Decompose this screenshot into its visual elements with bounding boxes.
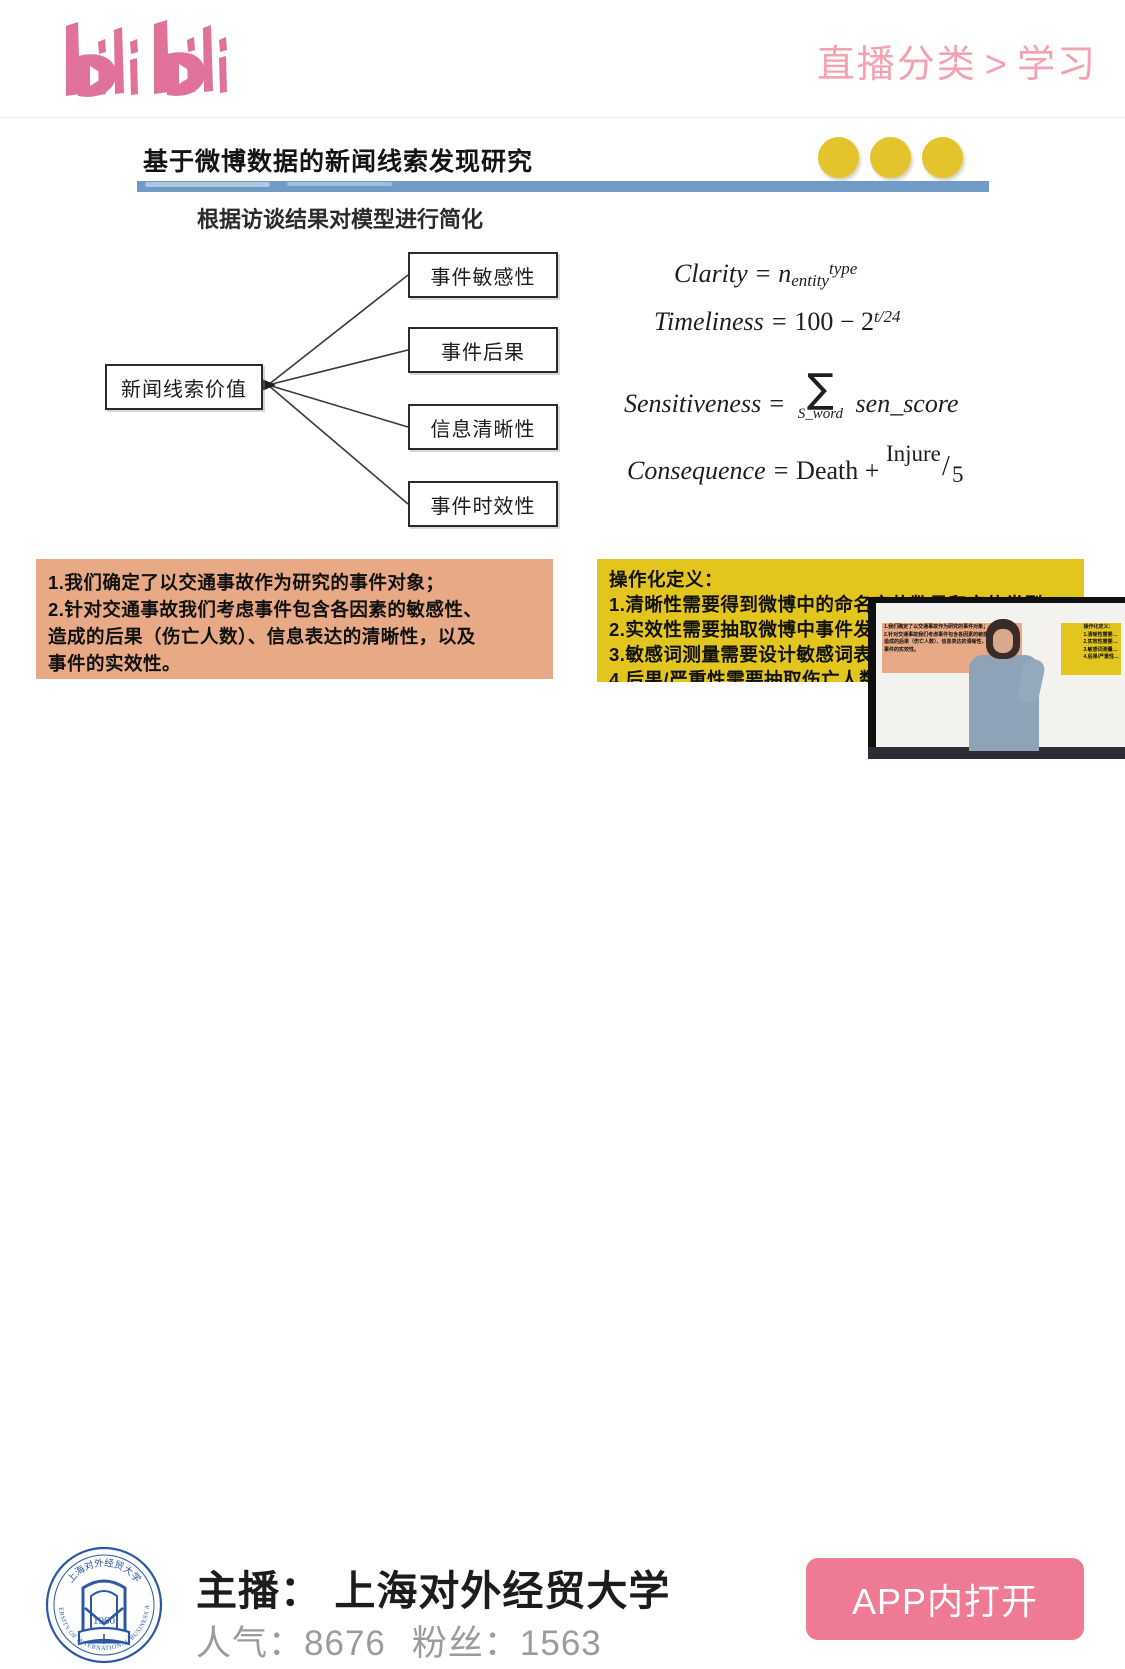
app-header: 直播分类>学习 <box>0 0 1125 118</box>
slide-decoration-dots <box>818 137 968 182</box>
decoration-dot-3 <box>922 137 963 178</box>
breadcrumb-separator-icon: > <box>985 44 1009 86</box>
diagram-node-consequence: 事件后果 <box>408 327 558 373</box>
formula-timeliness-base: 2 <box>861 307 874 336</box>
fraction-numerator: Injure <box>886 441 941 467</box>
fans-value: 1563 <box>520 1624 602 1663</box>
formula-consequence: Consequence = Death + Injure / 5 <box>627 451 964 486</box>
formula-timeliness-exponent: t/24 <box>874 307 900 326</box>
formula-block: Clarity = nentitytype Timeliness = 100 −… <box>612 259 1042 529</box>
rule-highlight-1 <box>145 182 270 187</box>
popularity-label: 人气： <box>196 1624 304 1663</box>
popularity-value: 8676 <box>304 1624 386 1663</box>
decoration-dot-1 <box>818 137 859 178</box>
formula-sensitiveness-equals: = <box>768 389 786 418</box>
fraction-slash-icon: / <box>942 451 950 483</box>
fraction-denominator: 5 <box>952 462 964 488</box>
sigma-subscript: S_word <box>798 406 843 423</box>
formula-timeliness: Timeliness = 100 − 2t/24 <box>654 307 900 337</box>
breadcrumb-current[interactable]: 学习 <box>1017 44 1097 86</box>
open-in-app-button[interactable]: APP内打开 <box>806 1558 1084 1640</box>
university-logo-icon: 1960 上海对外经贸大学 SHANGHAI UNIVERSITY OF INT… <box>45 1546 163 1664</box>
live-video-stage[interactable]: 基于微博数据的新闻线索发现研究 根据访谈结果对模型进行简化 新闻线索价值 事件敏… <box>0 119 1125 759</box>
formula-sensitiveness-name: Sensitiveness <box>624 389 761 418</box>
svg-text:1960: 1960 <box>93 1615 116 1627</box>
callout-findings-line: 造成的后果（伤亡人数）、信息表达的清晰性，以及 <box>48 623 543 650</box>
presenter-camera-overlay[interactable]: 1.我们确定了以交通事故作为研究的事件对象； 2.针对交通事故我们考虑事件包含各… <box>868 597 1125 759</box>
pip-definitions-text: 操作化定义： 1.清晰性需要… 2.实效性需要… 3.敏感词测量… 4.后果/严… <box>1083 624 1119 662</box>
slide-title-rule <box>137 181 989 192</box>
formula-consequence-name: Consequence <box>627 456 766 485</box>
formula-timeliness-minus: − <box>840 307 855 336</box>
formula-consequence-term1: Death <box>796 456 858 485</box>
formula-clarity-name: Clarity <box>674 259 748 288</box>
value-factor-diagram: 新闻线索价值 事件敏感性 事件后果 信息清晰性 事件时效性 <box>90 244 590 544</box>
callout-operational-heading: 操作化定义： <box>609 567 1074 592</box>
diagram-node-timeliness: 事件时效性 <box>408 481 558 527</box>
rule-highlight-2 <box>287 182 392 186</box>
formula-timeliness-constant: 100 <box>794 307 833 336</box>
summation-symbol: ∑ S_word <box>798 374 843 423</box>
callout-findings-line: 2.针对交通事故我们考虑事件包含各因素的敏感性、 <box>48 596 543 623</box>
pip-presenter-face <box>993 629 1013 653</box>
formula-clarity-superscript: type <box>829 259 857 278</box>
diagram-node-sensitivity: 事件敏感性 <box>408 252 558 298</box>
streamer-stats: 人气：8676粉丝：1563 <box>196 1615 602 1666</box>
formula-timeliness-name: Timeliness <box>654 307 764 336</box>
slide-subtitle: 根据访谈结果对模型进行简化 <box>197 202 483 234</box>
consequence-fraction: Injure / 5 <box>886 451 964 485</box>
sigma-glyph-icon: ∑ <box>798 374 843 404</box>
pip-findings-text: 1.我们确定了以交通事故作为研究的事件对象； 2.针对交通事故我们考虑事件包含各… <box>884 624 998 654</box>
formula-consequence-plus: + <box>865 456 880 485</box>
diagram-node-root: 新闻线索价值 <box>105 364 263 410</box>
breadcrumb: 直播分类>学习 <box>817 33 1097 88</box>
formula-clarity-subscript: entity <box>791 271 829 290</box>
fans-label: 粉丝： <box>412 1624 520 1663</box>
formula-timeliness-equals: = <box>770 307 788 336</box>
slide-title: 基于微博数据的新闻线索发现研究 <box>143 142 533 178</box>
breadcrumb-category[interactable]: 直播分类 <box>817 44 977 86</box>
formula-sensitiveness: Sensitiveness = ∑ S_word sen_score <box>624 374 959 423</box>
formula-clarity-equals: = <box>754 259 772 288</box>
callout-findings-line: 1.我们确定了以交通事故作为研究的事件对象； <box>48 569 543 596</box>
streamer-name: 主播： 上海对外经贸大学 <box>196 1557 670 1617</box>
formula-sensitiveness-term: sen_score <box>856 389 959 418</box>
bilibili-logo-icon[interactable] <box>58 16 253 104</box>
streamer-footer: 1960 上海对外经贸大学 SHANGHAI UNIVERSITY OF INT… <box>0 759 1125 934</box>
formula-clarity-base: n <box>778 259 791 288</box>
callout-findings: 1.我们确定了以交通事故作为研究的事件对象； 2.针对交通事故我们考虑事件包含各… <box>36 559 553 679</box>
diagram-node-clarity: 信息清晰性 <box>408 404 558 450</box>
formula-consequence-equals: = <box>772 456 790 485</box>
decoration-dot-2 <box>870 137 911 178</box>
formula-clarity: Clarity = nentitytype <box>674 259 857 291</box>
callout-findings-line: 事件的实效性。 <box>48 650 543 677</box>
